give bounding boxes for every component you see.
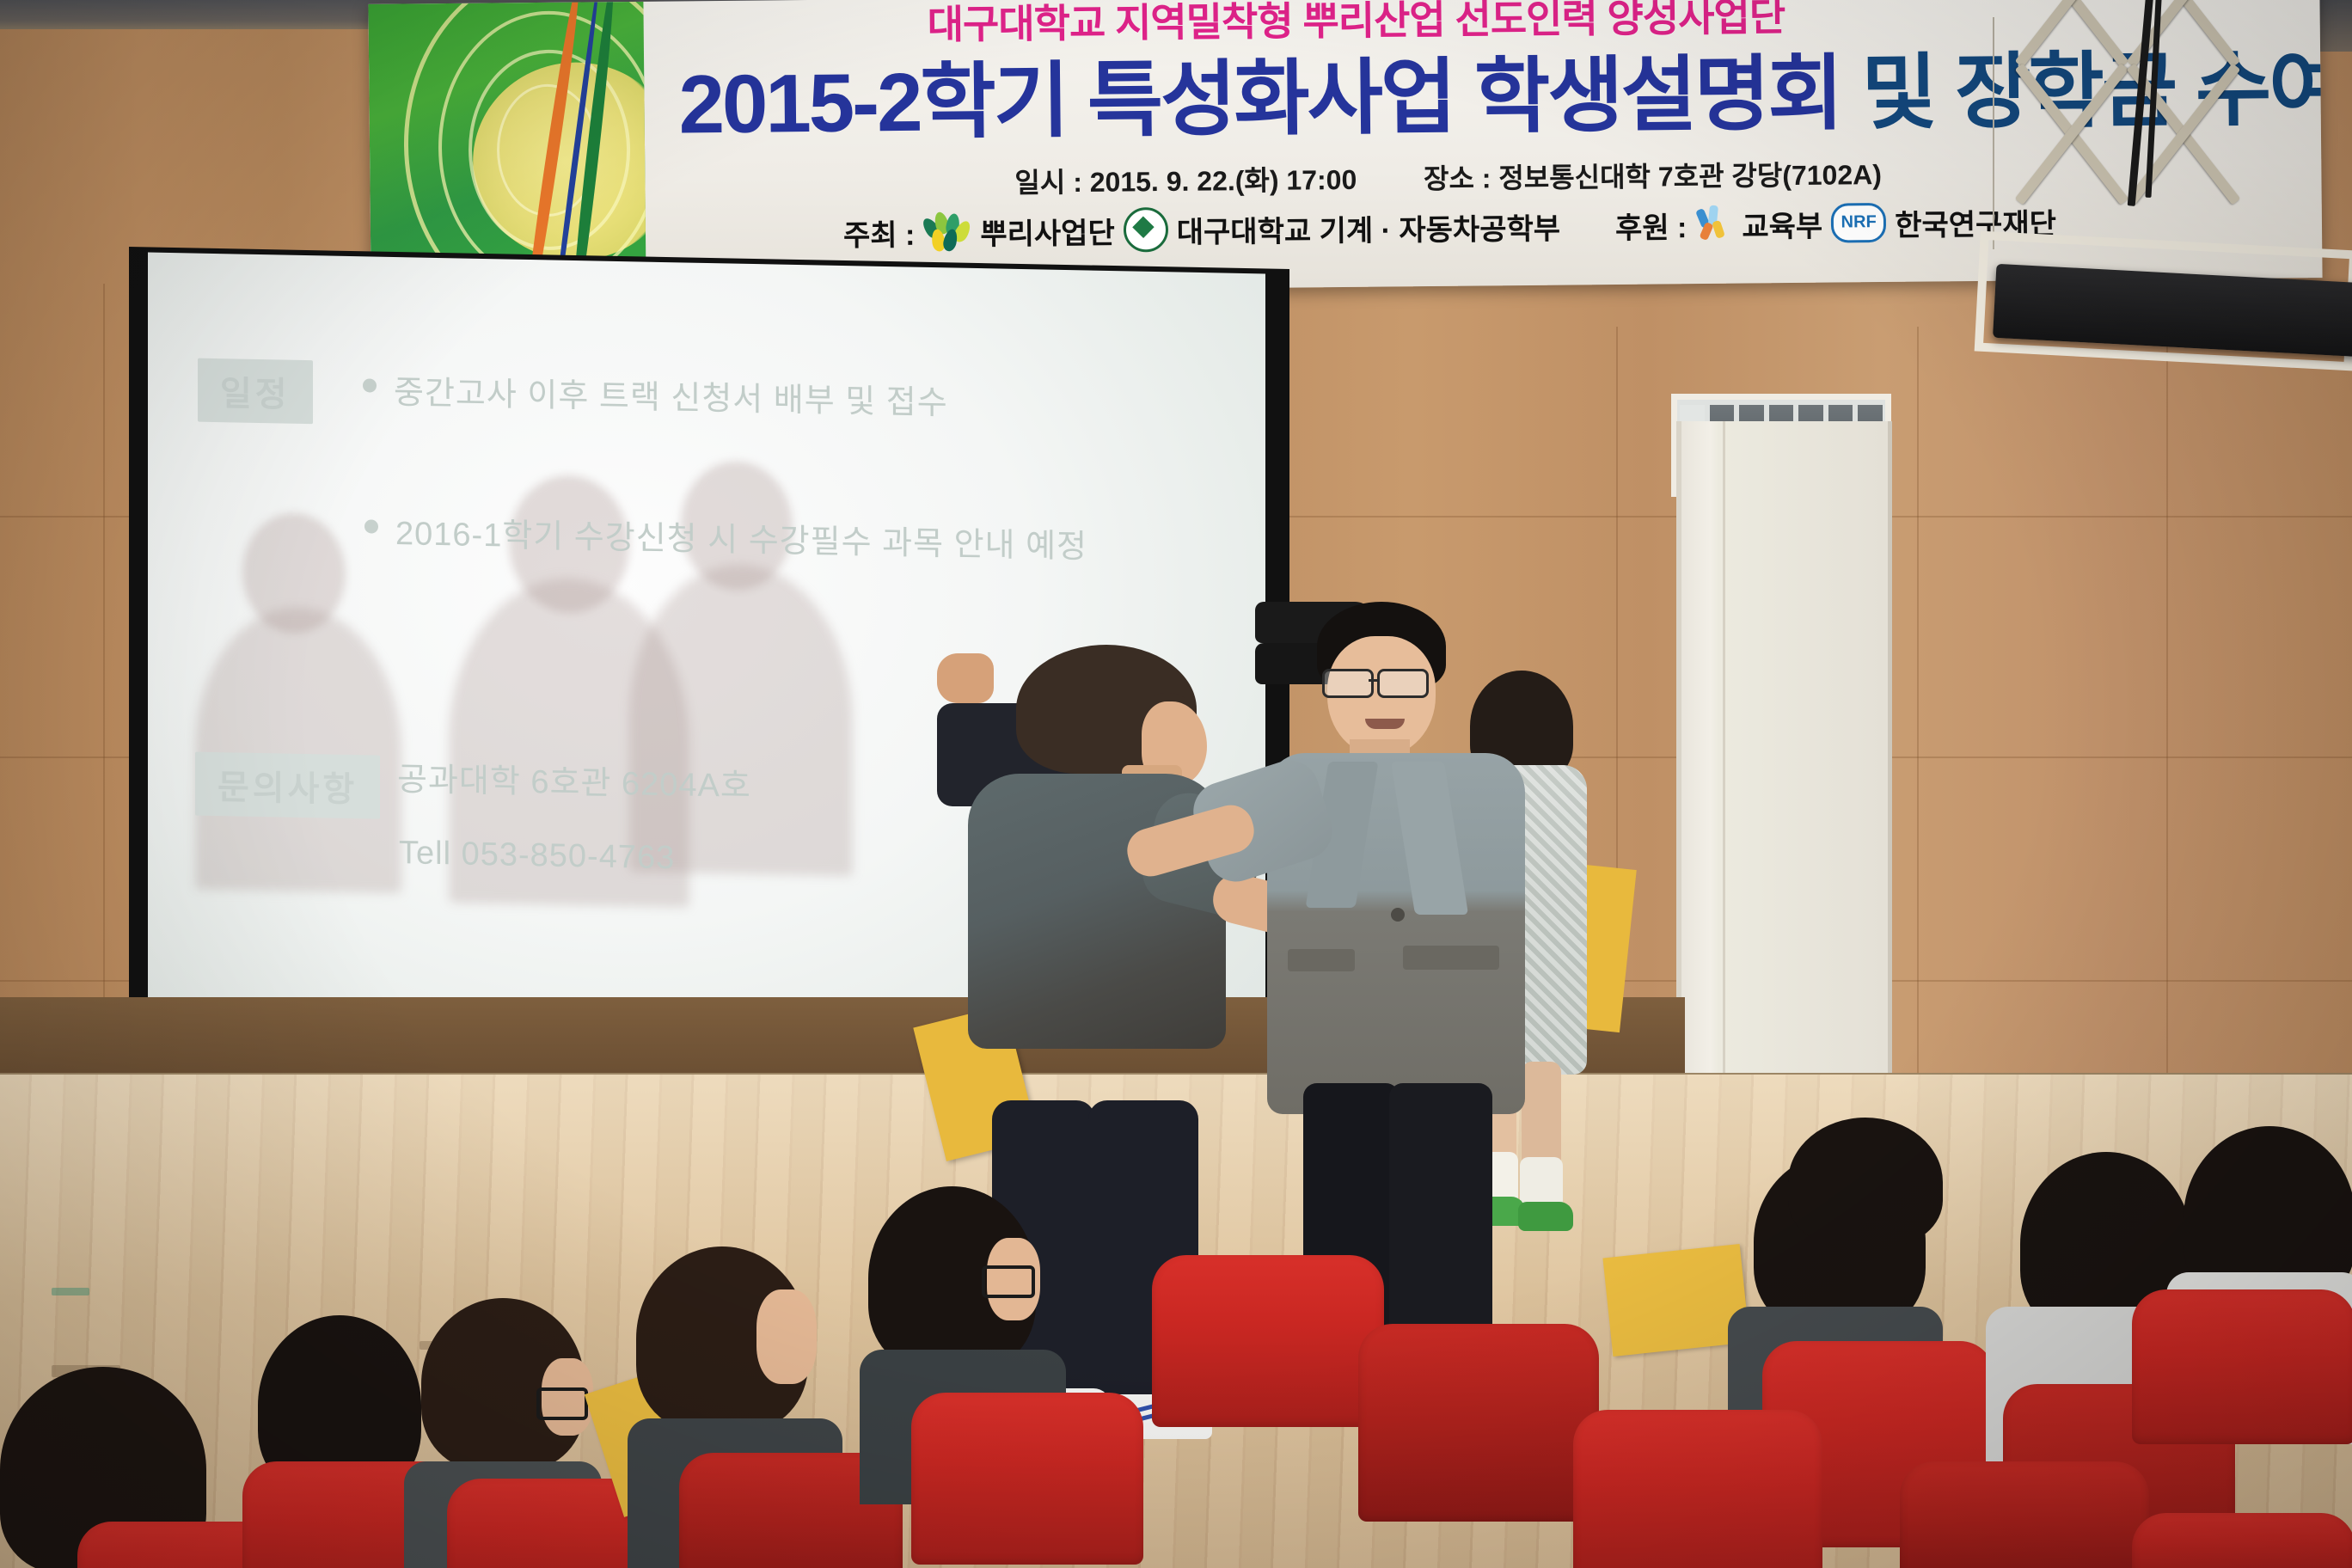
professor-person <box>1255 602 1539 1281</box>
audience-head <box>1788 1118 1943 1246</box>
seat <box>1152 1255 1384 1427</box>
banner-meta: 일시 : 2015. 9. 22.(화) 17:00 장소 : 정보통신대학 7… <box>1014 153 1882 201</box>
banner-location: 장소 : 정보통신대학 7호관 강당(7102A) <box>1424 159 1882 194</box>
ministry-of-education-logo <box>1695 205 1733 243</box>
support-label: 후원 : <box>1615 204 1687 247</box>
seat <box>1358 1324 1599 1522</box>
host-org-root: 뿌리사업단 <box>980 209 1115 252</box>
mouth <box>1365 719 1405 729</box>
audience-face <box>756 1289 817 1384</box>
slide-section-contact: 문의사항 <box>195 752 380 819</box>
slide-contact-tel: Tell 053-850-4763 <box>399 835 675 877</box>
blazer-button <box>1391 908 1405 922</box>
eyeglasses-icon <box>1322 669 1442 695</box>
banner-sponsors: 주최 : 뿌리사업단 대구대학교 기계 · 자동차공학부 후원 : <box>843 199 2056 255</box>
banner-datetime: 일시 : 2015. 9. 22.(화) 17:00 <box>1014 164 1357 199</box>
daegu-university-logo <box>1123 207 1167 252</box>
projector-hang-wire <box>1993 17 1994 249</box>
slide-bullet-marker <box>363 378 377 392</box>
nrf-logo: NRF <box>1831 203 1886 243</box>
wall-seam <box>103 284 105 1057</box>
seat <box>1573 1410 1822 1568</box>
eyeglasses-icon <box>982 1265 1035 1298</box>
blazer-pocket <box>1288 949 1355 971</box>
slide-contact-room: 공과대학 6호관 6204A호 <box>397 752 751 806</box>
blazer-pocket <box>1403 946 1499 970</box>
photo-scene: 대구대학교 지역밀착형 뿌리산업 선도인력 양성사업단 2015-2학기 특성화… <box>0 0 2352 1568</box>
handshake-hand <box>937 653 994 703</box>
wall-seam <box>1917 327 1919 1083</box>
seat <box>911 1393 1143 1565</box>
seat <box>1900 1461 2149 1568</box>
eyeglasses-icon <box>536 1387 588 1420</box>
slide-section-schedule: 일정 <box>198 358 313 425</box>
wall-seam <box>2166 327 2168 1083</box>
root-industry-logo <box>923 211 971 252</box>
seat <box>2132 1289 2352 1444</box>
slide-bullet-marker <box>364 519 378 533</box>
host-org-dept: 대구대학교 기계 · 자동차공학부 <box>1176 205 1560 250</box>
slide-bullet-2: 2016-1학기 수강신청 시 수강필수 과목 안내 예정 <box>395 506 1087 567</box>
seat <box>2132 1513 2352 1568</box>
slide-bullet-1: 중간고사 이후 트랙 신청서 배부 및 접수 <box>394 365 948 423</box>
host-label: 주최 : <box>843 211 916 254</box>
stage-side-door[interactable] <box>1676 421 1892 1075</box>
support-org-moe: 교육부 <box>1742 202 1822 245</box>
banner-title-part1: 2015-2학기 특성화사업 학생설명회 <box>678 47 1841 150</box>
floor-tape-mark <box>52 1288 89 1295</box>
